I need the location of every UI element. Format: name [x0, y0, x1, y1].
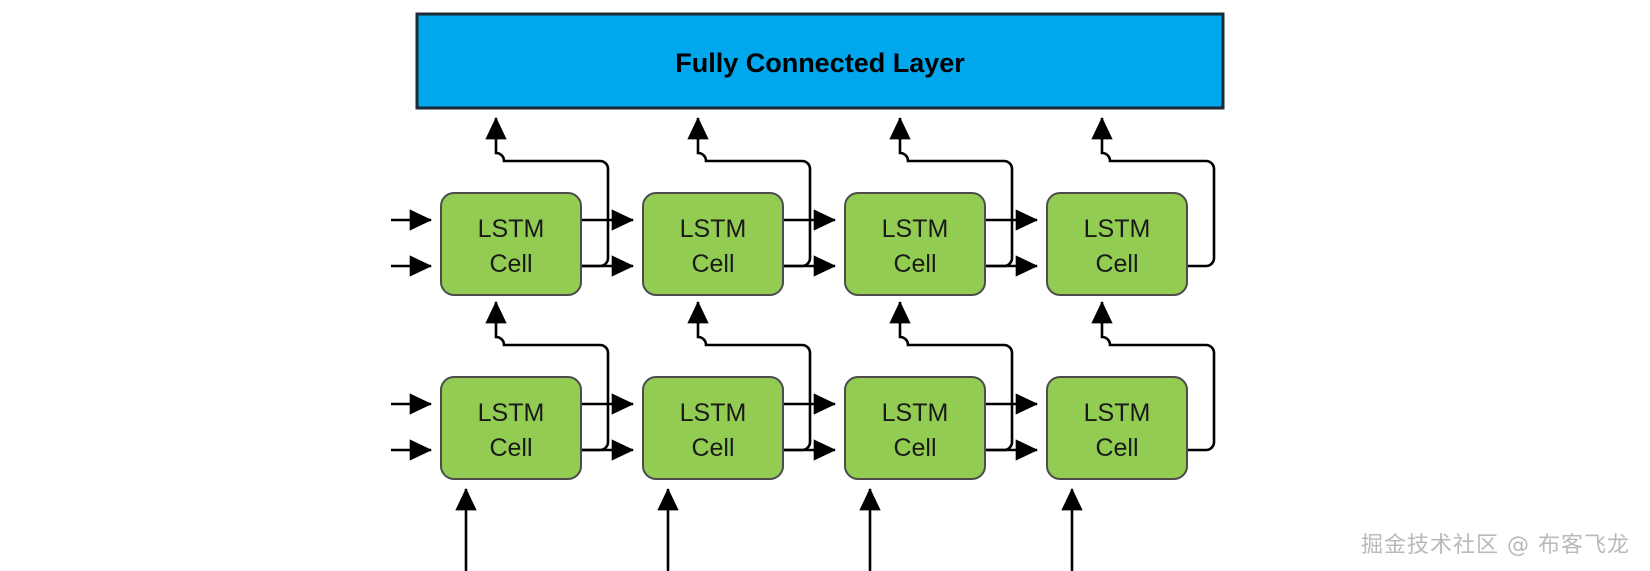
- lstm-cell-box[interactable]: [643, 193, 783, 295]
- lstm-cell-label-line1: LSTM: [882, 215, 949, 243]
- lstm-cell-lower-1[interactable]: LSTM Cell: [441, 377, 581, 479]
- lstm-cell-label-line1: LSTM: [1084, 399, 1151, 427]
- lstm-cell-lower-3[interactable]: LSTM Cell: [845, 377, 985, 479]
- lstm-cell-box[interactable]: [845, 193, 985, 295]
- fully-connected-layer-label: Fully Connected Layer: [675, 48, 965, 78]
- lstm-cell-lower-2[interactable]: LSTM Cell: [643, 377, 783, 479]
- lstm-cell-lower-4[interactable]: LSTM Cell: [1047, 377, 1187, 479]
- lstm-cell-label-line2: Cell: [489, 434, 532, 462]
- upper-lstm-row: LSTM Cell LSTM Cell LSTM Cell LSTM Cell: [441, 193, 1187, 295]
- lstm-cell-label-line2: Cell: [489, 250, 532, 278]
- lstm-cell-upper-4[interactable]: LSTM Cell: [1047, 193, 1187, 295]
- lstm-cell-label-line1: LSTM: [680, 215, 747, 243]
- lstm-cell-box[interactable]: [1047, 193, 1187, 295]
- watermark: 掘金技术社区 @ 布客飞龙: [1361, 527, 1630, 559]
- lstm-cell-box[interactable]: [441, 377, 581, 479]
- lstm-cell-label-line1: LSTM: [882, 399, 949, 427]
- lstm-cell-label-line2: Cell: [691, 250, 734, 278]
- diagram-canvas: Fully Connected Layer: [0, 0, 1650, 571]
- lstm-cell-label-line1: LSTM: [478, 399, 545, 427]
- lstm-cell-label-line2: Cell: [691, 434, 734, 462]
- lstm-cell-box[interactable]: [1047, 377, 1187, 479]
- lstm-cell-box[interactable]: [441, 193, 581, 295]
- lstm-cell-label-line2: Cell: [893, 250, 936, 278]
- lstm-cell-upper-1[interactable]: LSTM Cell: [441, 193, 581, 295]
- lstm-cell-label-line2: Cell: [1095, 250, 1138, 278]
- lstm-cell-box[interactable]: [845, 377, 985, 479]
- lstm-cell-label-line1: LSTM: [1084, 215, 1151, 243]
- lstm-cell-label-line2: Cell: [1095, 434, 1138, 462]
- lstm-cell-label-line1: LSTM: [478, 215, 545, 243]
- lstm-cell-label-line2: Cell: [893, 434, 936, 462]
- sequence-input-arrows: [466, 489, 1072, 571]
- lower-lstm-row: LSTM Cell LSTM Cell LSTM Cell LSTM Cell: [441, 377, 1187, 479]
- lstm-cell-upper-3[interactable]: LSTM Cell: [845, 193, 985, 295]
- lstm-architecture-diagram: Fully Connected Layer: [0, 0, 1650, 571]
- lstm-cell-box[interactable]: [643, 377, 783, 479]
- lstm-cell-label-line1: LSTM: [680, 399, 747, 427]
- fully-connected-layer[interactable]: Fully Connected Layer: [417, 14, 1223, 108]
- lstm-cell-upper-2[interactable]: LSTM Cell: [643, 193, 783, 295]
- initial-state-input-arrows: [391, 220, 431, 450]
